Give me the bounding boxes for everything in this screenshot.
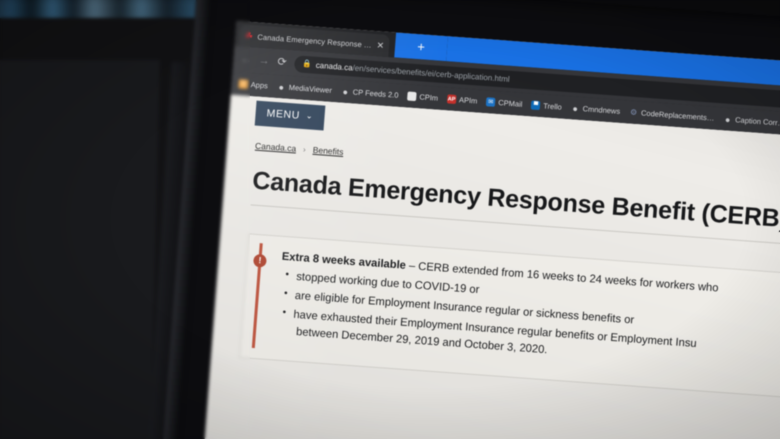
bookmark-label: CodeReplacements… — [641, 108, 715, 122]
menu-button-label: MENU — [266, 107, 300, 121]
bookmark-label: CP Feeds 2.0 — [352, 88, 398, 100]
bookmark-caption-corrections[interactable]: ● Caption Corr… — [723, 114, 780, 127]
bookmark-label: Caption Corr… — [735, 115, 780, 128]
bookmark-label: Apps — [250, 80, 268, 90]
mail-icon: ✉ — [486, 97, 496, 107]
monitor: ☘ Canada Emergency Response B… ✕ + ← → ⟳… — [160, 0, 780, 439]
globe-icon: ● — [276, 82, 286, 92]
dark-foreground-object-inner — [0, 60, 160, 439]
bookmark-apim[interactable]: AP APIm — [447, 94, 478, 105]
globe-icon: ● — [570, 103, 580, 113]
breadcrumb-separator-icon: › — [303, 145, 306, 154]
bookmark-cpim[interactable]: CPIm — [407, 91, 438, 102]
photo-scene: ☘ Canada Emergency Response B… ✕ + ← → ⟳… — [0, 0, 780, 439]
menu-button[interactable]: MENU ⌄ — [255, 101, 325, 131]
close-icon[interactable]: ✕ — [376, 41, 384, 51]
back-icon[interactable]: ← — [240, 54, 252, 66]
bookmark-cp-feeds[interactable]: ● CP Feeds 2.0 — [341, 87, 399, 100]
bookmark-label: CPIm — [419, 92, 438, 102]
code-icon: ⚙ — [629, 108, 639, 118]
bookmark-label: MediaViewer — [288, 83, 332, 95]
page-content: MENU ⌄ Canada.ca › Benefits Canada Emerg… — [201, 95, 780, 439]
new-tab-button[interactable]: + — [394, 32, 448, 61]
monitor-screen: ☘ Canada Emergency Response B… ✕ + ← → ⟳… — [201, 21, 780, 439]
bookmark-apps[interactable]: ☷ Apps — [238, 79, 268, 90]
bookmark-trello[interactable]: ▀ Trello — [531, 100, 562, 111]
ap-logo-icon: AP — [447, 94, 457, 104]
bookmark-codereplacements[interactable]: ⚙ CodeReplacements… — [629, 108, 715, 123]
reload-icon[interactable]: ⟳ — [276, 56, 288, 68]
forward-icon[interactable]: → — [258, 55, 270, 67]
maple-leaf-favicon: ☘ — [244, 31, 254, 41]
alert-box: ! Extra 8 weeks available – CERB extende… — [239, 233, 780, 399]
alert-lead-strong: Extra 8 weeks available — [281, 251, 406, 272]
breadcrumb-item-canada-ca[interactable]: Canada.ca — [255, 141, 297, 154]
bookmark-mediaviewer[interactable]: ● MediaViewer — [276, 82, 332, 95]
breadcrumb-item-benefits[interactable]: Benefits — [312, 145, 343, 157]
url-path: /en/services/benefits/ei/cerb-applicatio… — [352, 63, 510, 83]
trello-icon: ▀ — [531, 100, 541, 110]
bookmark-label: CPMail — [498, 98, 523, 109]
bookmark-cpmail[interactable]: ✉ CPMail — [486, 97, 523, 109]
bookmark-cmndnews[interactable]: ● Cmndnews — [570, 103, 620, 116]
lock-icon: 🔒 — [302, 60, 312, 69]
bookmark-label: Trello — [543, 101, 562, 111]
bookmark-label: APIm — [459, 95, 478, 105]
apps-grid-icon: ☷ — [238, 79, 248, 89]
plus-icon: + — [417, 40, 426, 54]
blank-page-icon — [407, 91, 417, 101]
globe-icon: ● — [341, 87, 351, 97]
exclamation-circle-icon: ! — [253, 254, 267, 268]
globe-icon: ● — [723, 114, 733, 124]
bookmark-label: Cmndnews — [582, 104, 620, 116]
chevron-down-icon: ⌄ — [306, 112, 314, 121]
url-host: canada.ca — [315, 60, 353, 72]
tab-title: Canada Emergency Response B… — [257, 32, 373, 49]
